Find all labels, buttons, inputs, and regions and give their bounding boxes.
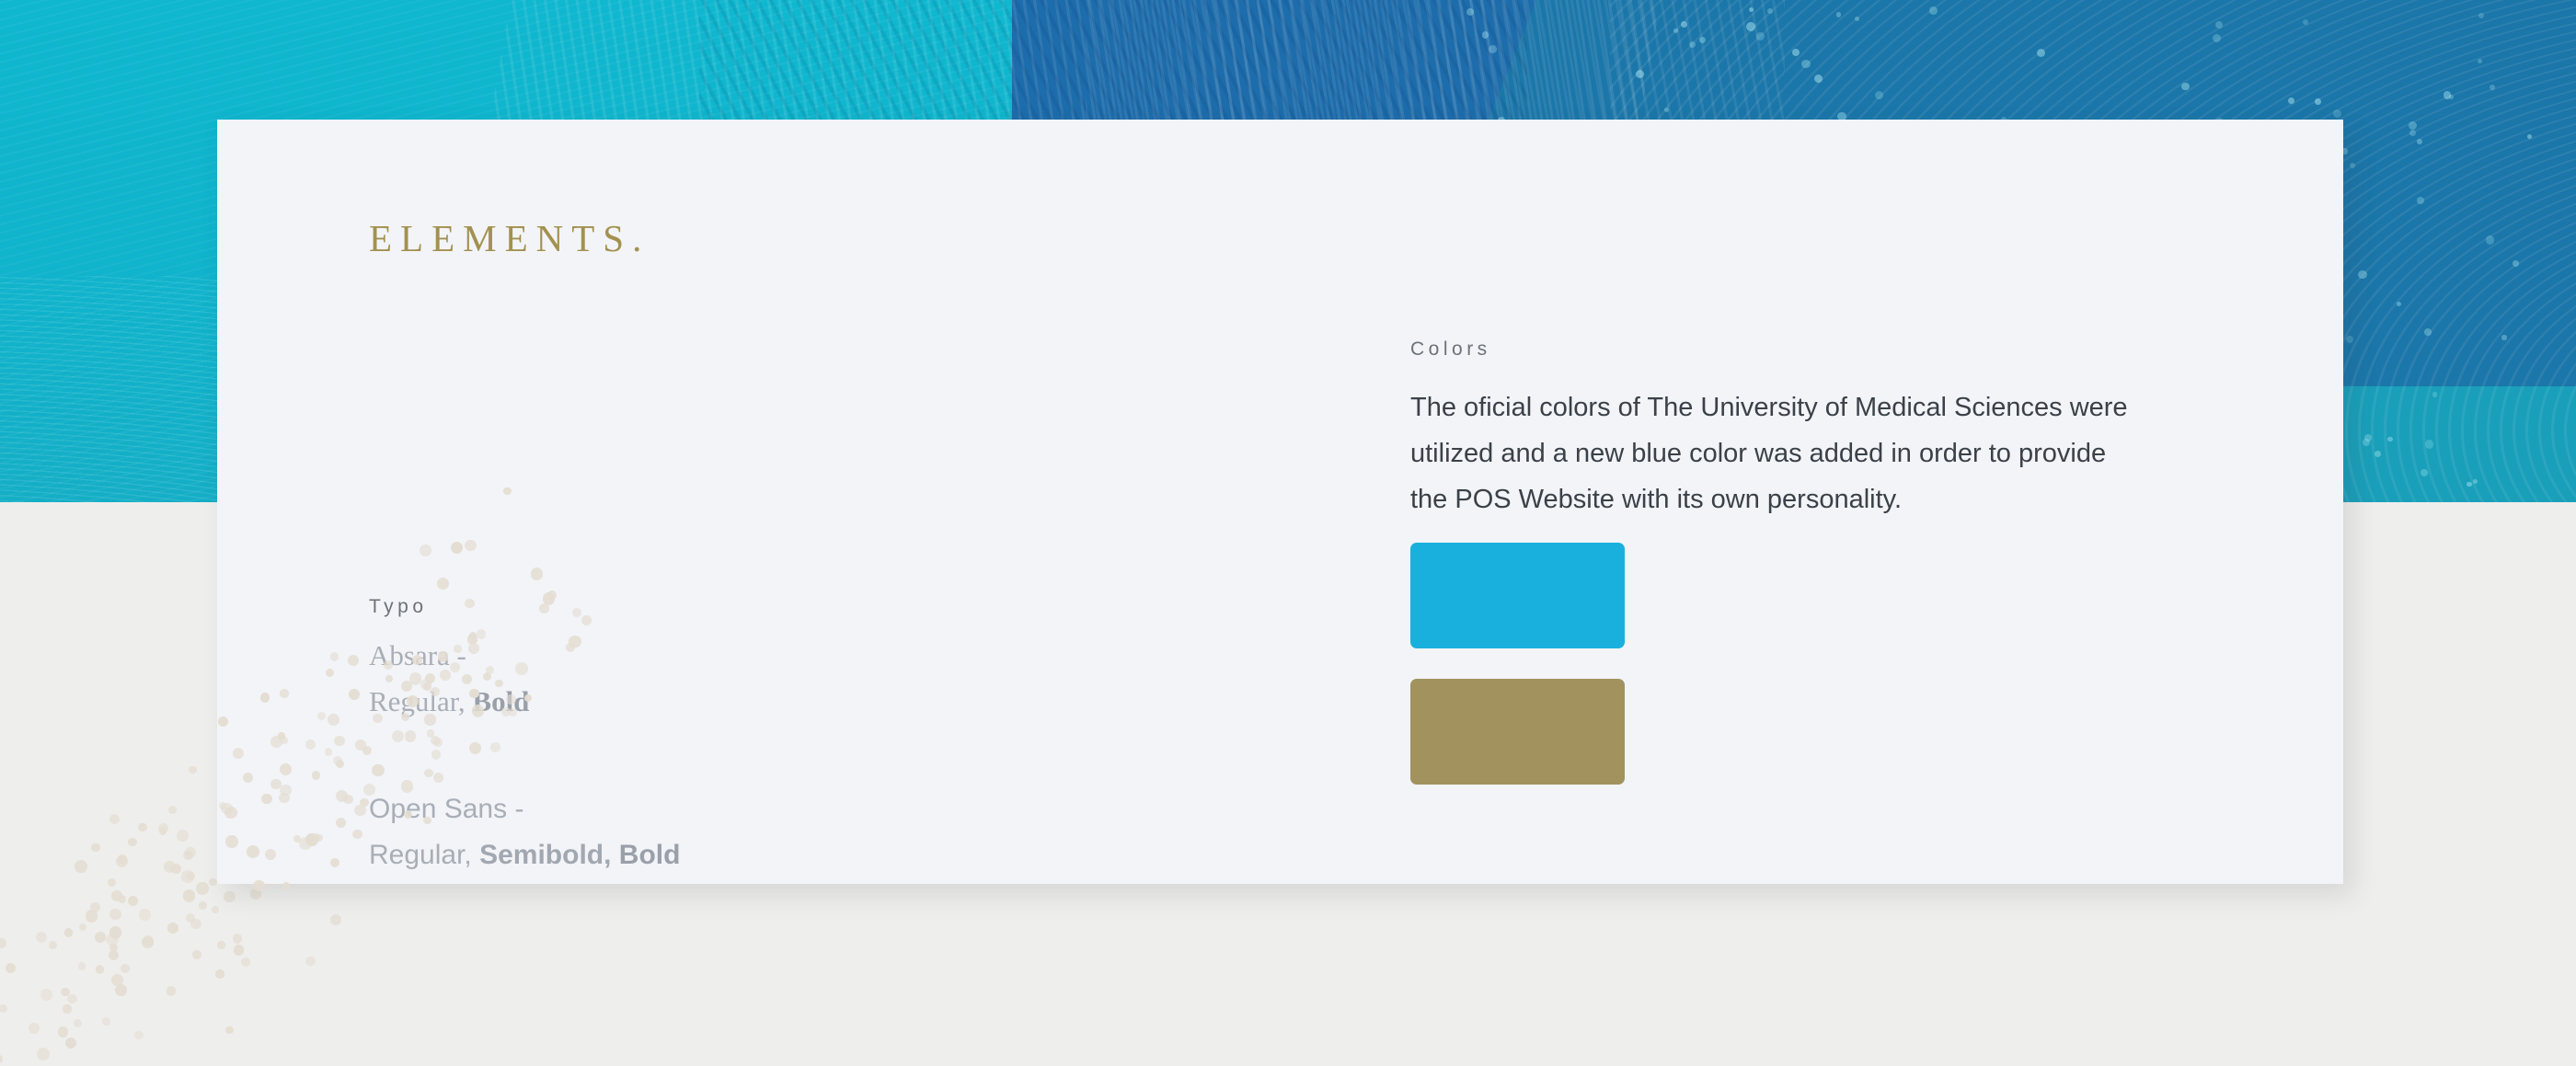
colors-section-label: Colors — [1410, 338, 1491, 361]
page-title: ELEMENTS. — [369, 216, 650, 260]
beige-dots-decoration — [0, 441, 828, 1066]
color-swatch-brand-blue — [1410, 543, 1625, 648]
color-swatch-brand-gold — [1410, 679, 1625, 785]
right-column: Colors The oficial colors of The Univers… — [1410, 120, 2238, 884]
presentation-slide: ELEMENTS. Typo Absara - Regular, Bold Op… — [0, 0, 2576, 1066]
colors-description: The oficial colors of The University of … — [1410, 384, 2128, 522]
